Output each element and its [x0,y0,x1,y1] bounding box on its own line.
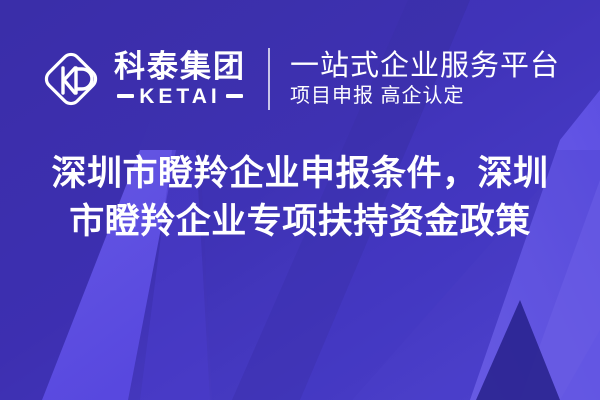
tagline-main: 一站式企业服务平台 [290,51,560,83]
headline-block: 深圳市瞪羚企业申报条件，深圳 市瞪羚企业专项扶持资金政策 [0,150,600,246]
brand-wordmark: 科泰集团 KETAI [114,51,246,107]
header-divider [268,48,270,110]
ketai-diamond-monogram-icon [40,48,102,110]
dash-left-icon [117,94,134,98]
brand-name-cn: 科泰集团 [114,51,246,84]
tagline-sub: 项目申报 高企认定 [290,85,560,107]
tagline-block: 一站式企业服务平台 项目申报 高企认定 [290,51,560,108]
dash-right-icon [226,94,243,98]
promo-banner: 科泰集团 KETAI 一站式企业服务平台 项目申报 高企认定 深圳市瞪羚企业申报… [0,0,600,400]
headline-line-1: 深圳市瞪羚企业申报条件，深圳 [51,150,548,198]
banner-header: 科泰集团 KETAI 一站式企业服务平台 项目申报 高企认定 [0,38,600,120]
brand-name-en-row: KETAI [114,86,246,107]
headline-line-2: 市瞪羚企业专项扶持资金政策 [69,198,531,246]
brand-name-en: KETAI [139,86,220,107]
brand-logo: 科泰集团 KETAI [40,40,246,118]
